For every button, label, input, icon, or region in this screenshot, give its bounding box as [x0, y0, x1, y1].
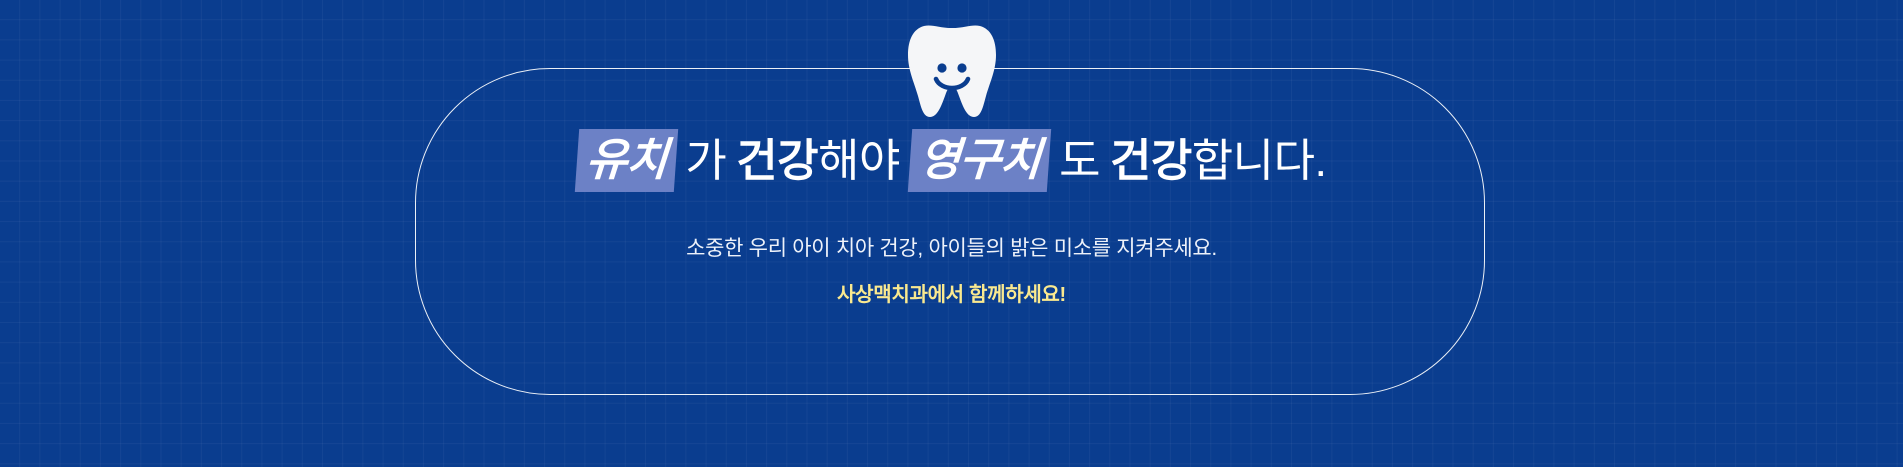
headline: 유치 가 건강 해야 영구치 도 건강 합니다.	[577, 129, 1327, 192]
subline-text: 소중한 우리 아이 치아 건강, 아이들의 밝은 미소를 지켜주세요.	[686, 232, 1217, 262]
headline-suffix-haeya: 해야	[818, 134, 900, 187]
headline-particle-do: 도	[1059, 134, 1100, 187]
headline-highlight-primary-teeth: 유치	[574, 129, 677, 192]
dental-promo-banner: 유치 가 건강 해야 영구치 도 건강 합니다. 소중한 우리 아이 치아 건강…	[0, 0, 1903, 467]
headline-particle-ga: 가	[685, 134, 726, 187]
banner-content: 유치 가 건강 해야 영구치 도 건강 합니다. 소중한 우리 아이 치아 건강…	[0, 0, 1903, 467]
headline-highlight-permanent-teeth: 영구치	[908, 129, 1052, 192]
headline-word-healthy-1: 건강	[736, 134, 818, 187]
headline-word-healthy-2: 건강	[1110, 134, 1192, 187]
headline-suffix-hamnida: 합니다.	[1192, 134, 1327, 187]
clinic-tagline: 사상맥치과에서 함께하세요!	[837, 278, 1066, 307]
